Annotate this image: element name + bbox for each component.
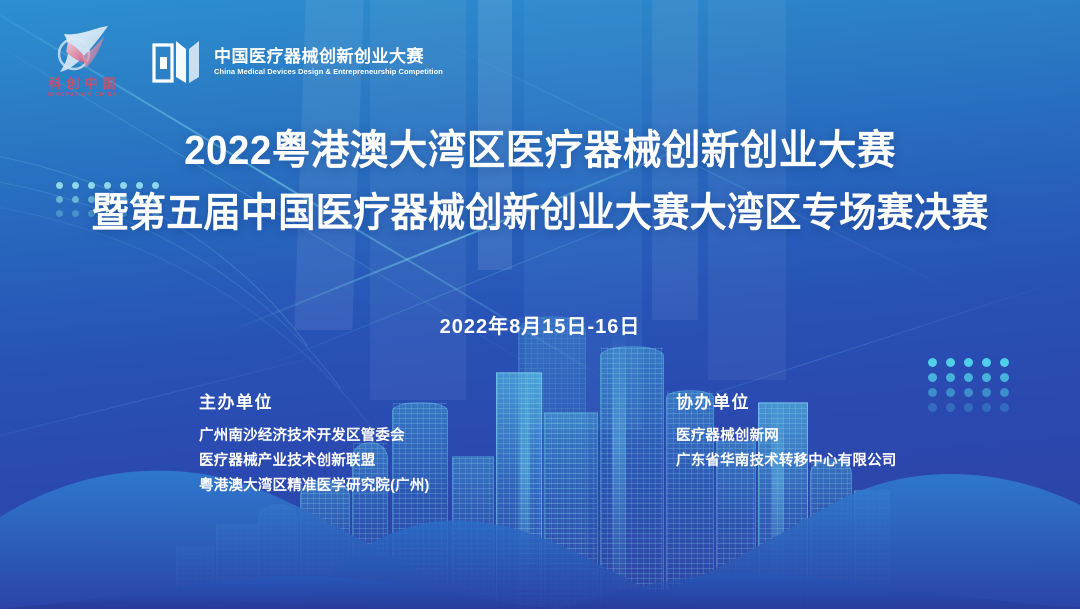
open-door-icon	[152, 39, 202, 85]
coorganizer-column: 协办单位 医疗器械创新网 广东省华南技术转移中心有限公司	[676, 388, 897, 474]
competition-en-title: China Medical Devices Design & Entrepren…	[214, 68, 443, 76]
title-line-2: 暨第五届中国医疗器械创新创业大赛大湾区专场赛决赛	[38, 191, 1042, 236]
host-item: 粤港澳大湾区精准医学研究院(广州)	[199, 474, 430, 499]
coorganizer-item: 广东省华南技术转移中心有限公司	[676, 449, 897, 474]
host-item: 医疗器械产业技术创新联盟	[199, 449, 430, 474]
coorganizer-heading: 协办单位	[676, 388, 897, 413]
event-date: 2022年8月15日-16日	[0, 310, 1080, 339]
host-organizers-column: 主办单位 广州南沙经济技术开发区管委会 医疗器械产业技术创新联盟 粤港澳大湾区精…	[199, 388, 430, 499]
innovation-china-cn-text: 科创中国	[38, 77, 126, 90]
host-heading: 主办单位	[199, 388, 430, 413]
competition-cn-title: 中国医疗器械创新创业大赛	[214, 48, 443, 67]
main-title-block: 2022粤港澳大湾区医疗器械创新创业大赛 暨第五届中国医疗器械创新创业大赛大湾区…	[0, 128, 1080, 236]
title-line-1: 2022粤港澳大湾区医疗器械创新创业大赛	[32, 128, 1047, 174]
coorganizer-item: 医疗器械创新网	[676, 424, 897, 449]
innovation-china-logo: 科创中国 INNOVATION CHINA	[38, 26, 126, 98]
event-banner: 科创中国 INNOVATION CHINA 中国医疗器械创新创业大赛 China…	[0, 0, 1080, 609]
innovation-china-bird-icon	[46, 26, 118, 76]
host-item: 广州南沙经济技术开发区管委会	[199, 424, 430, 449]
organizers-section: 主办单位 广州南沙经济技术开发区管委会 医疗器械产业技术创新联盟 粤港澳大湾区精…	[0, 388, 1080, 508]
competition-logo: 中国医疗器械创新创业大赛 China Medical Devices Desig…	[152, 39, 443, 85]
header-logos: 科创中国 INNOVATION CHINA 中国医疗器械创新创业大赛 China…	[38, 26, 443, 98]
innovation-china-en-text: INNOVATION CHINA	[38, 93, 126, 99]
